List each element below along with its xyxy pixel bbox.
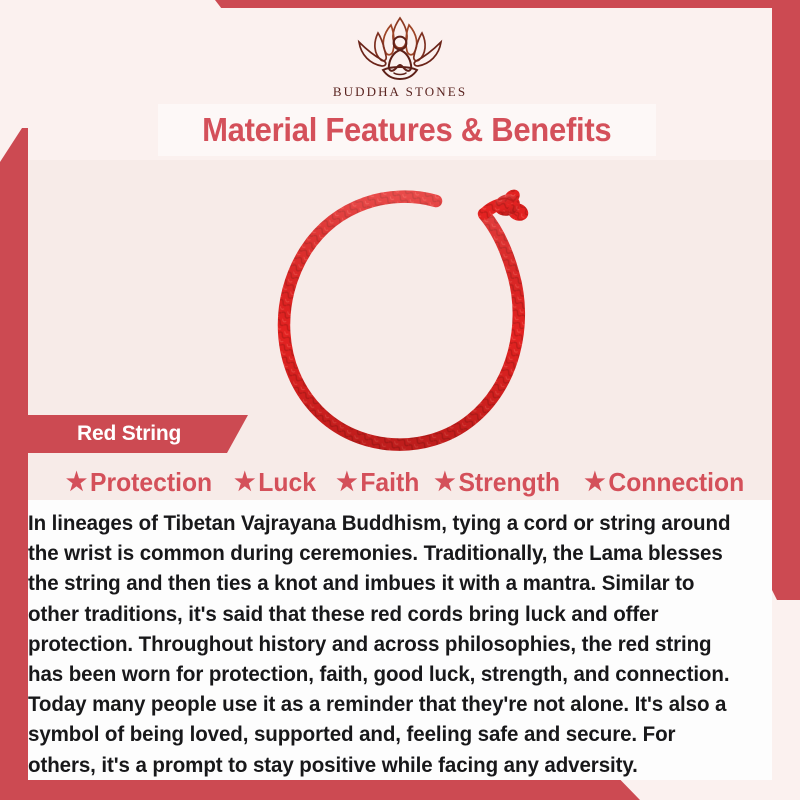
brand-wordmark: BUDDHA STONES (333, 84, 467, 100)
benefit-item-luck: ★ Luck (234, 467, 316, 498)
lotus-meditation-icon (337, 12, 463, 82)
star-icon: ★ (336, 470, 357, 495)
benefit-item-faith: ★ Faith (336, 467, 419, 498)
section-banner: Red String (24, 415, 248, 453)
red-braided-string-bracelet-icon (240, 168, 580, 468)
infographic-page: BUDDHA STONES Material Features & Benefi… (0, 0, 800, 800)
star-icon: ★ (435, 470, 456, 495)
section-banner-label: Red String (24, 422, 181, 446)
benefit-label: Strength (459, 467, 561, 498)
benefits-row: ★ Protection ★ Luck ★ Faith ★ Strength ★… (36, 462, 774, 502)
benefit-item-strength: ★ Strength (435, 467, 561, 498)
benefit-label: Connection (608, 467, 744, 498)
benefit-item-connection: ★ Connection (584, 467, 744, 498)
benefit-item-protection: ★ Protection (66, 467, 212, 498)
page-title: Material Features & Benefits (202, 111, 611, 149)
star-icon: ★ (66, 470, 87, 495)
star-icon: ★ (584, 470, 605, 495)
product-image (240, 168, 580, 468)
benefit-label: Luck (258, 467, 316, 498)
page-title-box: Material Features & Benefits (158, 104, 656, 156)
star-icon: ★ (234, 470, 255, 495)
brand-logo: BUDDHA STONES (0, 12, 800, 100)
benefit-label: Faith (360, 467, 419, 498)
benefit-label: Protection (90, 467, 212, 498)
description-paragraph: In lineages of Tibetan Vajrayana Buddhis… (28, 508, 742, 780)
